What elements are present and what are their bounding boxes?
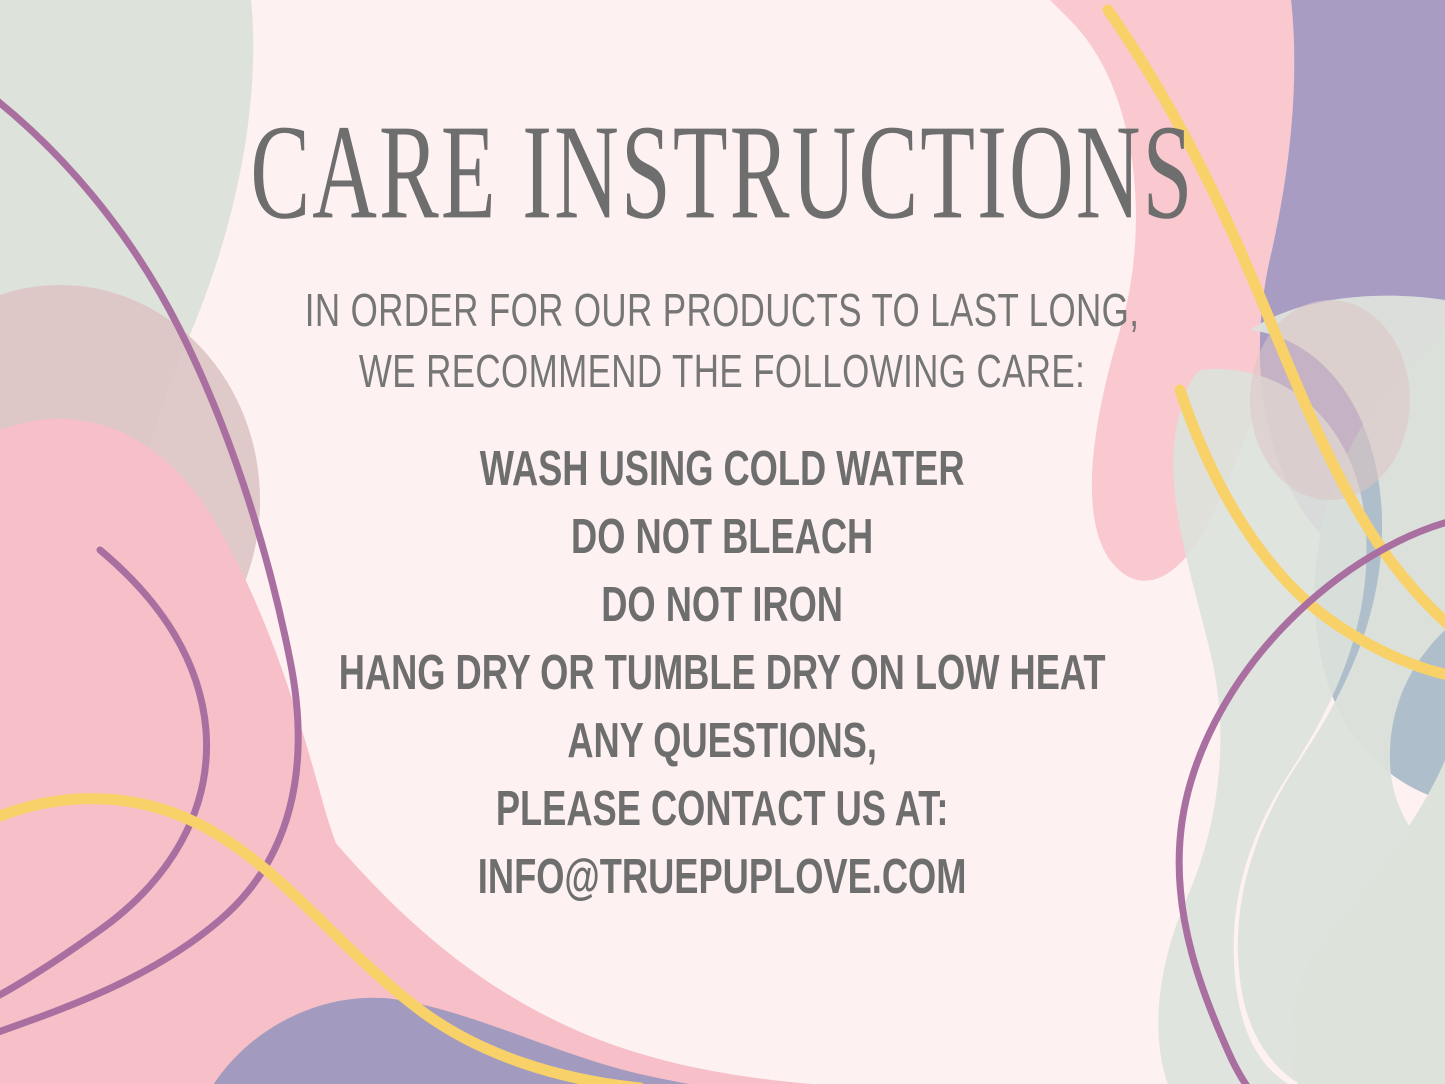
care-instructions-card: CARE INSTRUCTIONS IN ORDER FOR OUR PRODU… <box>0 0 1445 1084</box>
decorative-background-art <box>0 0 1445 1084</box>
